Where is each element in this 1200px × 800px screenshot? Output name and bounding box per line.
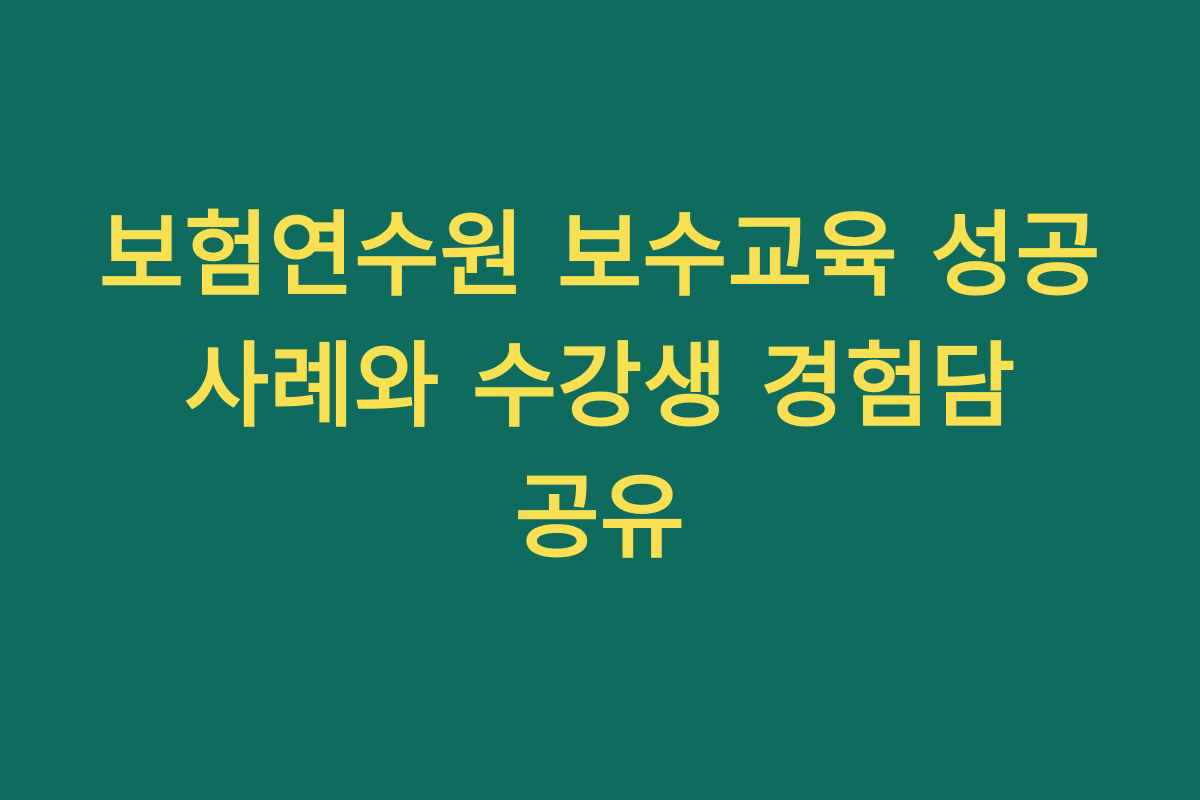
headline-container: 보험연수원 보수교육 성공 사례와 수강생 경험담 공유	[95, 190, 1105, 583]
page-title: 보험연수원 보수교육 성공 사례와 수강생 경험담 공유	[95, 190, 1105, 583]
text-card: 보험연수원 보수교육 성공 사례와 수강생 경험담 공유	[0, 0, 1200, 800]
